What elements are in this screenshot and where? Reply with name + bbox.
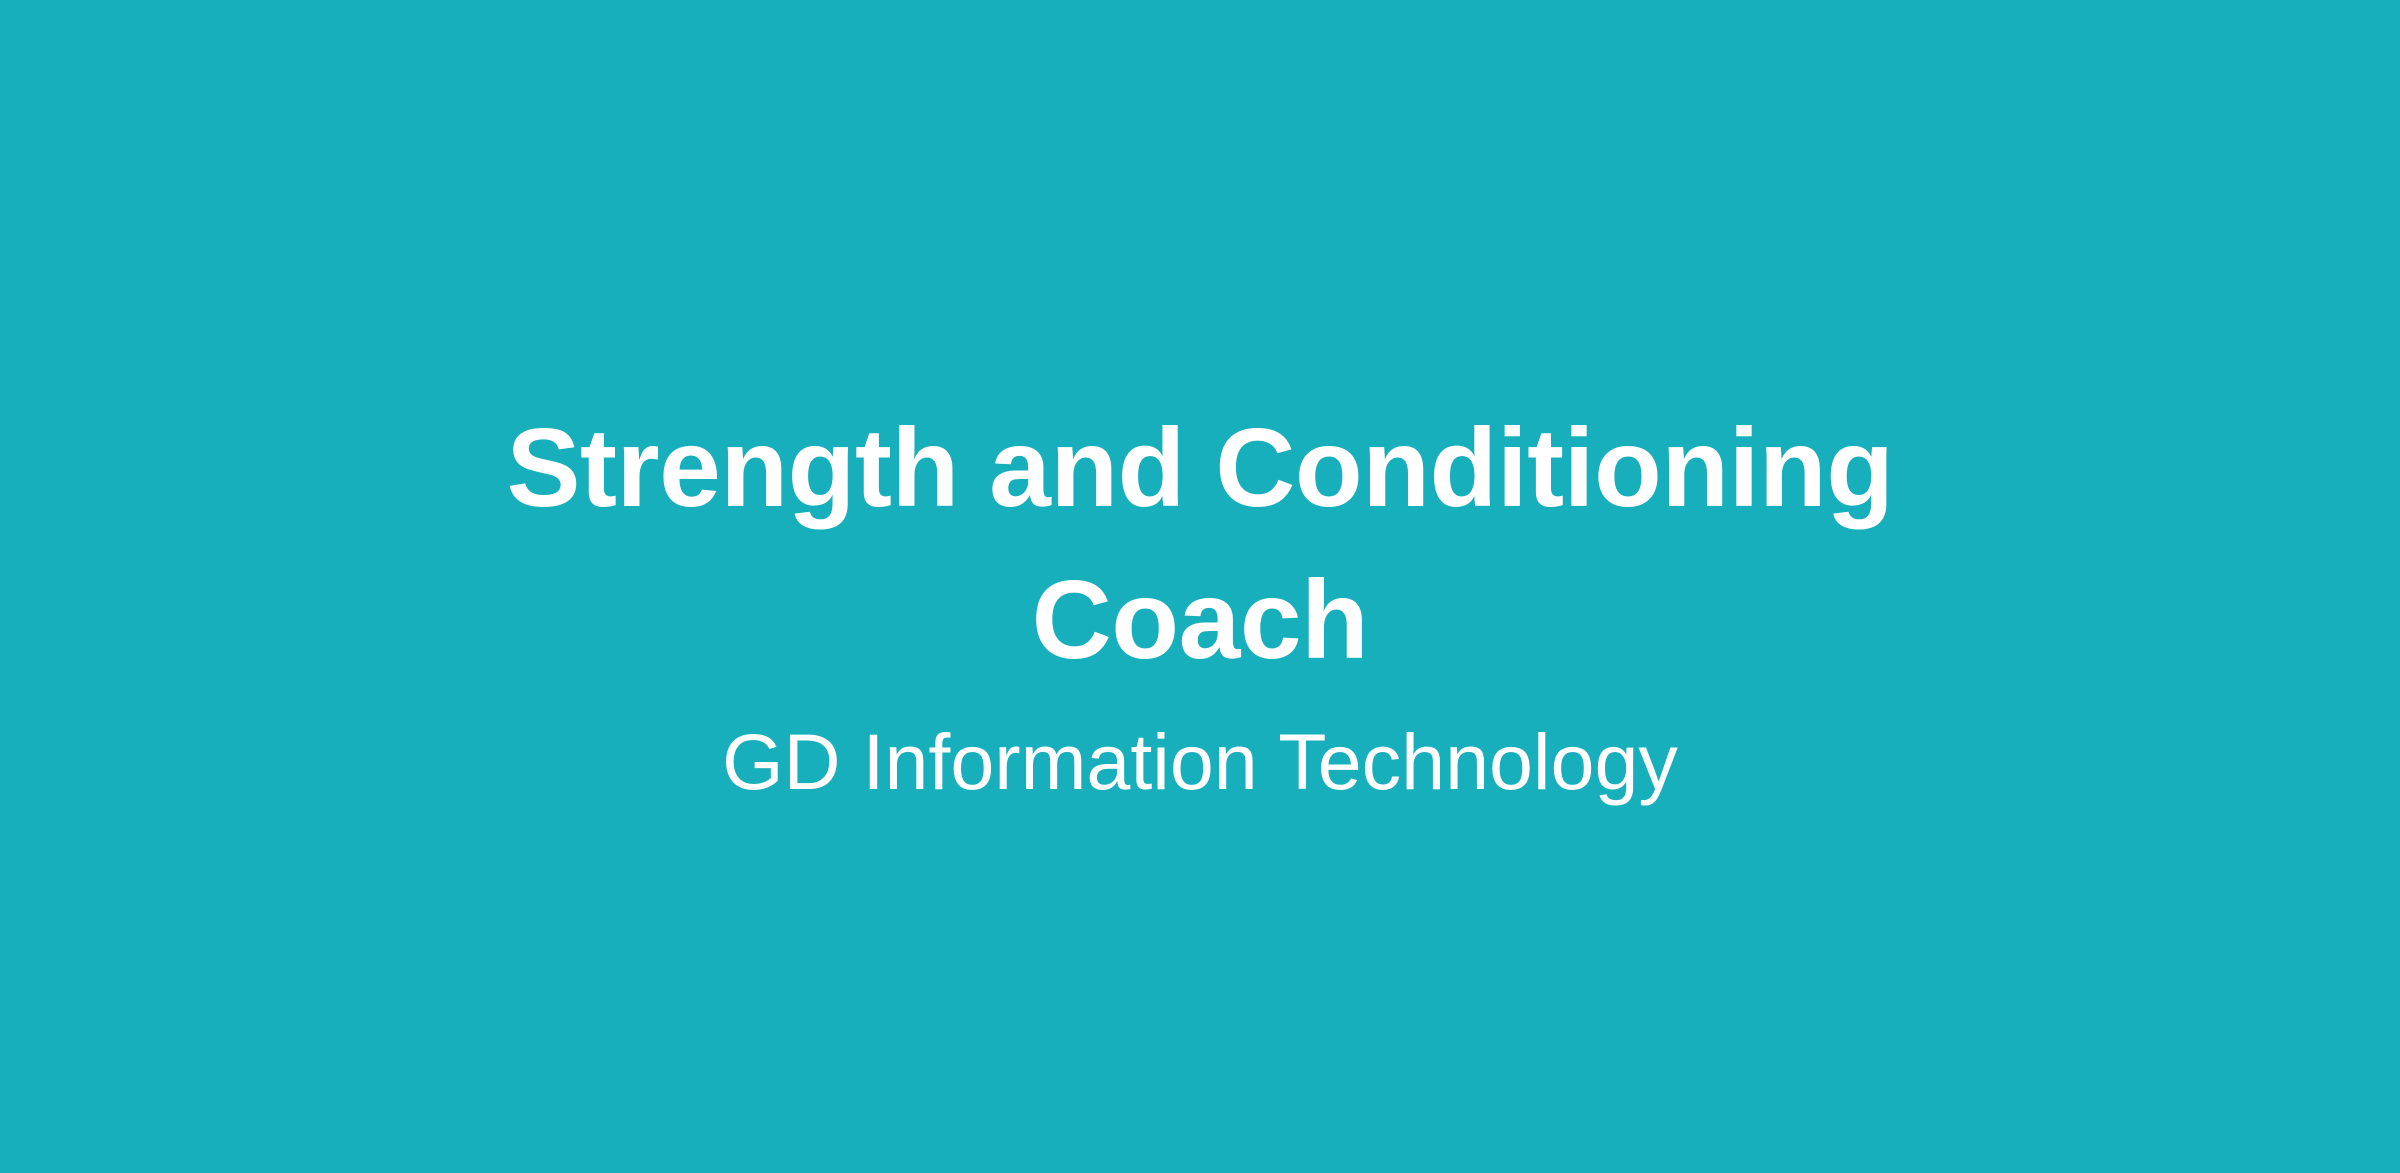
- hero-content: Strength and Conditioning Coach GD Infor…: [440, 392, 1960, 808]
- company-name: GD Information Technology: [440, 716, 1960, 808]
- page-title: Strength and Conditioning Coach: [440, 392, 1960, 696]
- job-header-banner: Strength and Conditioning Coach GD Infor…: [0, 0, 2400, 1173]
